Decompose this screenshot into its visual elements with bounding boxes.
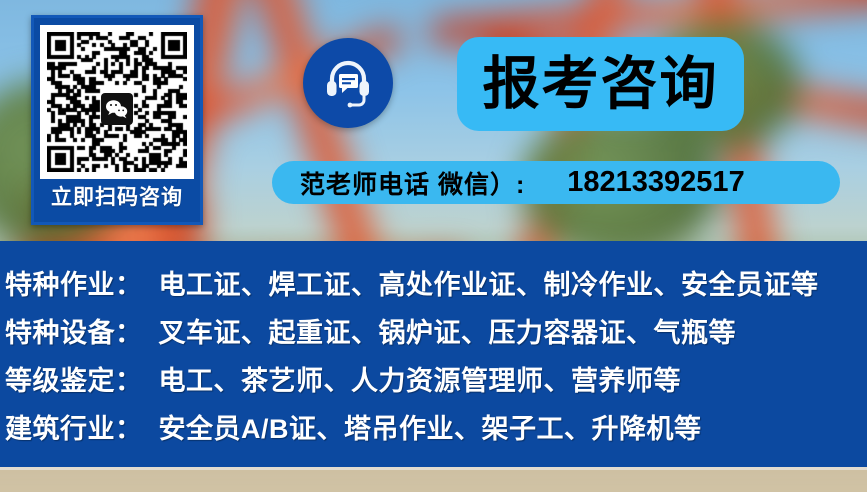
qr-code-icon [47, 32, 187, 172]
wechat-icon [101, 93, 133, 125]
category-label: 特种作业： [5, 263, 143, 302]
headset-support-icon [321, 54, 375, 113]
contact-phone-bar[interactable]: 范老师电话 微信）: 18213392517 [272, 161, 840, 204]
panel-bottom-divider [0, 467, 867, 470]
category-label: 建筑行业： [5, 407, 143, 446]
category-row: 特种设备： 叉车证、起重证、锅炉证、压力容器证、气瓶等 [5, 311, 867, 359]
category-items: 电工证、焊工证、高处作业证、制冷作业、安全员证等 [159, 263, 819, 302]
contact-phone-label: 范老师电话 微信）: [300, 165, 525, 201]
contact-phone-number[interactable]: 18213392517 [567, 166, 744, 199]
qr-caption: 立即扫码咨询 [51, 187, 183, 208]
qr-code-surface [40, 25, 194, 179]
certification-categories-panel: 特种作业： 电工证、焊工证、高处作业证、制冷作业、安全员证等 特种设备： 叉车证… [0, 241, 867, 467]
headset-support-badge [303, 38, 393, 128]
category-label: 等级鉴定： [5, 359, 143, 398]
promo-banner: 立即扫码咨询 报考咨询 [0, 0, 867, 492]
qr-code-card[interactable]: 立即扫码咨询 [31, 15, 203, 225]
consult-cta-button[interactable]: 报考咨询 [457, 37, 744, 131]
category-items: 叉车证、起重证、锅炉证、压力容器证、气瓶等 [159, 311, 737, 350]
consult-cta-label: 报考咨询 [483, 56, 719, 113]
category-label: 特种设备： [5, 311, 143, 350]
category-row: 等级鉴定： 电工、茶艺师、人力资源管理师、营养师等 [5, 359, 867, 407]
category-row: 建筑行业： 安全员A/B证、塔吊作业、架子工、升降机等 [5, 407, 867, 455]
category-items: 电工、茶艺师、人力资源管理师、营养师等 [159, 359, 682, 398]
category-items: 安全员A/B证、塔吊作业、架子工、升降机等 [159, 407, 702, 446]
category-row: 特种作业： 电工证、焊工证、高处作业证、制冷作业、安全员证等 [5, 263, 867, 311]
